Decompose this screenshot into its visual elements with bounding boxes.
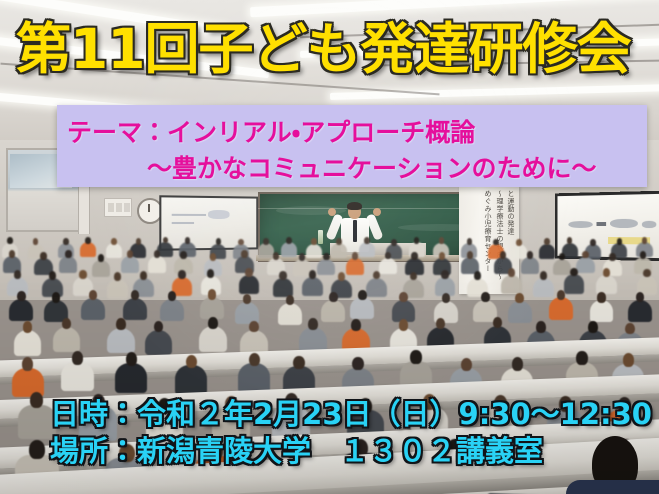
audience-member-head	[603, 268, 610, 277]
audience-member-head	[414, 237, 420, 244]
audience-member-head	[52, 292, 60, 302]
audience-member	[521, 257, 539, 274]
audience-member-head	[625, 323, 635, 335]
audience-member-head	[63, 238, 69, 245]
audience-member-head	[508, 268, 515, 277]
audience-member-head	[186, 355, 197, 369]
audience-member-head	[245, 268, 252, 277]
audience-member-head	[85, 237, 91, 244]
audience-member	[281, 242, 297, 257]
audience-member-head	[439, 252, 445, 260]
audience-member	[80, 242, 96, 257]
audience-member	[59, 256, 77, 273]
audience-member-head	[636, 292, 644, 302]
ceiling-light	[330, 83, 659, 100]
audience-member	[200, 297, 224, 319]
audience-member-head	[500, 251, 506, 259]
audience-member-head	[185, 237, 191, 244]
audience-member-head	[640, 251, 646, 259]
subtitle-box: テーマ：インリアル・アプローチ概論 ～豊かなコミュニケーションのために～	[57, 105, 647, 187]
audience-member	[123, 298, 147, 320]
audience-member-head	[467, 251, 473, 259]
audience-member-head	[273, 252, 279, 260]
audience-member-head	[65, 250, 71, 258]
audience-member-head	[329, 292, 337, 302]
poster-footer: 日時：令和２年2月23日（日）9:30～12:30 場所：新潟青陵大学 １３０２…	[50, 396, 659, 470]
audience-member	[61, 362, 93, 392]
audience-member-head	[516, 239, 522, 246]
audience-member	[115, 363, 147, 393]
audience-member-head	[23, 321, 33, 333]
audience-member-head	[352, 357, 363, 371]
audience-member-head	[308, 318, 318, 330]
audience-member-head	[140, 271, 147, 280]
audience-member	[302, 277, 323, 296]
audience-member-head	[293, 356, 304, 370]
audience-member-head	[208, 289, 216, 299]
audience-member-head	[351, 319, 361, 331]
audience-member	[321, 300, 345, 322]
audience-member	[564, 274, 585, 293]
audience-member-head	[208, 317, 218, 329]
audience-member-head	[590, 239, 596, 246]
audience-member-head	[410, 350, 421, 364]
audience-member	[239, 275, 260, 294]
audience-member	[359, 242, 375, 257]
audience-member	[175, 365, 207, 395]
audience-member	[81, 298, 105, 320]
event-poster: と運動の発達 ～理学療法士の視点から～ めぐみ小児療育センター 第11回子ども発…	[0, 0, 659, 494]
audience-member-head	[411, 252, 417, 260]
audience-member	[145, 330, 173, 355]
audience-member-head	[352, 252, 358, 260]
audience-member-head	[338, 272, 345, 281]
audience-member	[511, 244, 527, 259]
audience-member-head	[597, 292, 605, 302]
audience-member-head	[439, 237, 445, 244]
foreground-person-torso	[566, 480, 659, 494]
audience-member-head	[286, 237, 292, 244]
audience-member	[331, 243, 347, 258]
audience-member-head	[299, 253, 305, 261]
audience-member-head	[154, 321, 164, 333]
audience-member-head	[249, 353, 260, 367]
audience-member	[379, 258, 397, 275]
audience-member-head	[263, 238, 269, 245]
audience-member	[553, 259, 571, 276]
audience-member-head	[286, 295, 294, 305]
audience-member-head	[30, 392, 43, 408]
audience-member-head	[515, 293, 523, 303]
audience-member	[199, 326, 227, 351]
audience-member-head	[336, 238, 342, 245]
footer-datetime: 日時：令和２年2月23日（日）9:30～12:30	[50, 396, 659, 433]
audience-member	[350, 297, 374, 319]
audience-member	[53, 327, 81, 352]
audience-member-head	[442, 293, 450, 303]
audience-member-head	[358, 290, 366, 300]
audience-member-head	[207, 269, 214, 278]
audience-member	[533, 278, 554, 297]
audience-member-head	[609, 253, 615, 261]
audience-member	[160, 299, 184, 321]
poster-title: 第11回子ども発達研修会	[16, 22, 631, 77]
audience-member-head	[178, 270, 185, 279]
audience-member	[14, 330, 42, 355]
audience-member-head	[493, 317, 503, 329]
audience-member-head	[116, 318, 126, 330]
audience-member-head	[111, 238, 117, 245]
audience-member-head	[311, 238, 317, 245]
audience-member	[107, 328, 135, 353]
audience-member-head	[9, 250, 15, 258]
audience-member	[278, 303, 302, 325]
audience-member-head	[527, 251, 533, 259]
audience-member	[106, 243, 122, 258]
audience-member-head	[7, 237, 13, 244]
audience-member-head	[399, 319, 409, 331]
audience-member-head	[474, 271, 481, 280]
audience-member	[238, 363, 270, 393]
audience-member	[306, 244, 322, 259]
banner-column-1: と運動の発達	[506, 190, 515, 235]
ceiling-light	[250, 0, 659, 17]
audience-member-head	[461, 358, 472, 372]
audience-member-head	[642, 237, 648, 244]
audience-member-head	[570, 268, 577, 277]
audience-member	[92, 260, 110, 277]
audience-member-head	[127, 250, 133, 258]
audience-member-head	[40, 252, 46, 260]
audience-member-head	[238, 239, 244, 246]
audience-member-head	[540, 271, 547, 280]
audience-member	[317, 259, 335, 276]
audience-member-head	[323, 253, 329, 261]
audience-member-head	[588, 321, 598, 333]
audience-member	[9, 299, 33, 321]
subtitle-line-2: ～豊かなコミュニケーションのために～	[57, 149, 659, 185]
audience-member-head	[391, 239, 397, 246]
audience-member	[366, 278, 387, 297]
audience-member-head	[309, 270, 316, 279]
audience-member-head	[544, 238, 550, 245]
audience-member-head	[436, 318, 446, 330]
audience-member-head	[399, 292, 407, 302]
audience-member-head	[493, 239, 499, 246]
audience-member	[539, 244, 555, 259]
audience-member-head	[617, 238, 623, 245]
audience-member-head	[643, 269, 650, 278]
audience-member-head	[441, 270, 448, 279]
audience-member	[121, 256, 139, 273]
audience-member-head	[279, 271, 286, 280]
audience-member	[501, 275, 522, 294]
audience-member	[258, 243, 274, 258]
audience-member-head	[154, 250, 160, 258]
audience-member	[549, 297, 573, 319]
audience-member	[508, 301, 532, 323]
audience-member-head	[364, 237, 370, 244]
audience-member-head	[72, 351, 83, 365]
audience-member-head	[126, 352, 137, 366]
audience-member	[107, 279, 128, 298]
audience-member-head	[79, 270, 86, 279]
audience-member-head	[512, 357, 523, 371]
footer-venue: 場所：新潟青陵大学 １３０２講義室	[50, 433, 659, 470]
audience-member	[346, 258, 364, 275]
audience-member-head	[49, 271, 56, 280]
audience-member-head	[623, 353, 634, 367]
audience-member-head	[17, 291, 25, 301]
audience-member-head	[168, 291, 176, 301]
audience-member	[148, 256, 166, 273]
audience-member	[596, 275, 617, 294]
audience-member-head	[467, 238, 473, 245]
audience-member-head	[582, 251, 588, 259]
audience-member-head	[29, 440, 44, 459]
audience-member-head	[14, 270, 21, 279]
audience-member	[628, 300, 652, 322]
audience-member-head	[559, 253, 565, 261]
audience-member-head	[536, 321, 546, 333]
audience-member-head	[98, 254, 104, 262]
audience-member-head	[481, 292, 489, 302]
audience-member-head	[131, 290, 139, 300]
audience-member-head	[136, 238, 142, 245]
subtitle-line-1: テーマ：インリアル・アプローチ概論	[57, 113, 657, 149]
audience-member-head	[241, 250, 247, 258]
audience-member-head	[249, 321, 259, 333]
audience-member-head	[89, 290, 97, 300]
light-switch-plate	[104, 198, 132, 217]
audience-member-head	[557, 290, 565, 300]
audience-member-head	[210, 253, 216, 261]
audience-member-head	[576, 351, 587, 365]
audience-member-head	[216, 238, 222, 245]
audience-member-head	[22, 357, 33, 371]
audience-member	[590, 300, 614, 322]
audience-member	[576, 257, 594, 274]
audience-member-head	[180, 251, 186, 259]
